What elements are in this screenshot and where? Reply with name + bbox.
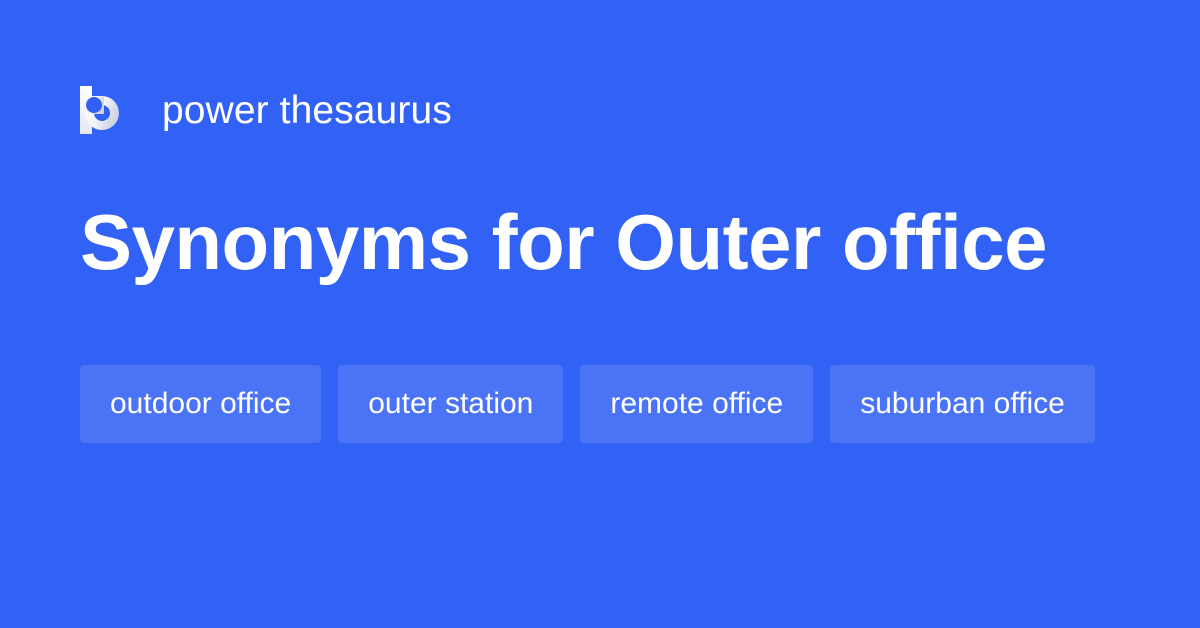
brand-name: power thesaurus	[162, 91, 452, 130]
synonym-chip[interactable]: outdoor office	[80, 365, 321, 443]
synonym-chip[interactable]: outer station	[338, 365, 563, 443]
synonym-chip[interactable]: remote office	[580, 365, 813, 443]
page-title: Synonyms for Outer office	[80, 196, 1140, 288]
share-card: power thesaurus Synonyms for Outer offic…	[0, 0, 1200, 628]
synonym-chip-list: outdoor office outer station remote offi…	[80, 365, 1130, 443]
brand-header[interactable]: power thesaurus	[80, 80, 452, 140]
synonym-chip[interactable]: suburban office	[830, 365, 1095, 443]
power-thesaurus-b-logo-icon	[80, 86, 126, 134]
